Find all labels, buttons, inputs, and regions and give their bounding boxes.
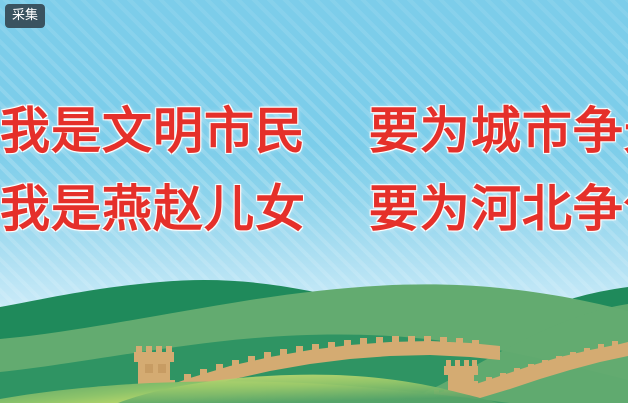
slogan-line-1: 我是文明市民 要为城市争光 [0, 92, 628, 170]
banner-image: 我是文明市民 要为城市争光 我是燕赵儿女 要为河北争气 采集 [0, 0, 628, 403]
slogan-line-1-left: 我是文明市民 [0, 92, 306, 170]
capture-button[interactable]: 采集 [5, 4, 45, 28]
slogan-line-1-right: 要为城市争光 [369, 92, 628, 170]
slogan-text-block: 我是文明市民 要为城市争光 我是燕赵儿女 要为河北争气 [0, 92, 628, 248]
slogan-line-2-left: 我是燕赵儿女 [0, 170, 306, 248]
slogan-line-2: 我是燕赵儿女 要为河北争气 [0, 170, 628, 248]
slogan-line-2-right: 要为河北争气 [369, 170, 628, 248]
